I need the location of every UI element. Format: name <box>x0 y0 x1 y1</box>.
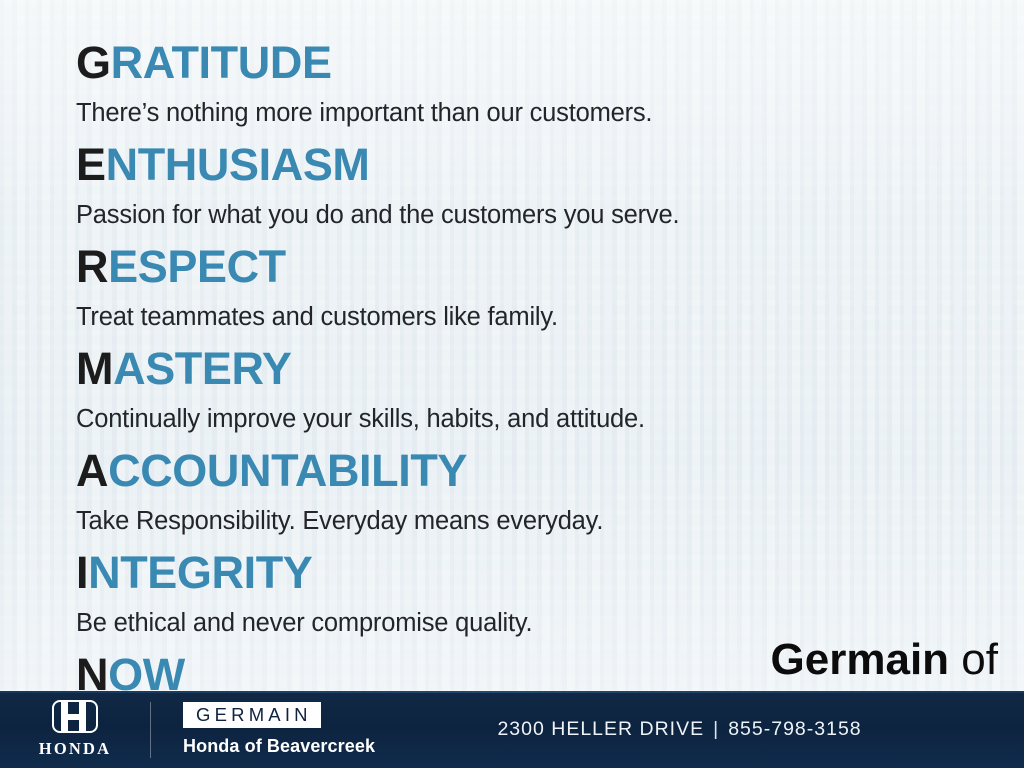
footer-top-edge <box>0 691 1024 693</box>
value-word-enthusiasm: ENTHUSIASM <box>76 136 976 194</box>
value-item-gratitude: GRATITUDE There’s nothing more important… <box>76 34 976 134</box>
value-description-accountability: Take Responsibility. Everyday means ever… <box>76 500 976 542</box>
brandmark-name-line: Germain of <box>712 636 998 684</box>
value-lead-letter: R <box>76 241 108 292</box>
values-poster: GRATITUDE There’s nothing more important… <box>0 0 1024 768</box>
honda-logo-block: HONDA <box>0 700 150 759</box>
germain-badge: GERMAIN <box>183 702 321 727</box>
value-rest-letters: RATITUDE <box>111 37 332 88</box>
value-description-gratitude: There’s nothing more important than our … <box>76 92 976 134</box>
value-rest-letters: NTEGRITY <box>88 547 312 598</box>
brandmark-name-strong: Germain <box>771 635 950 684</box>
value-lead-letter: E <box>76 139 106 190</box>
dealer-address: 2300 HELLER DRIVE <box>497 718 704 740</box>
value-description-respect: Treat teammates and customers like famil… <box>76 296 976 338</box>
contact-separator: | <box>704 718 728 741</box>
dealer-subtitle: Honda of Beavercreek <box>183 736 375 757</box>
footer-contact-block: 2300 HELLER DRIVE|855-798-3158 <box>375 718 1024 741</box>
value-word-respect: RESPECT <box>76 238 976 296</box>
value-word-accountability: ACCOUNTABILITY <box>76 442 976 500</box>
value-item-enthusiasm: ENTHUSIASM Passion for what you do and t… <box>76 136 976 236</box>
value-item-accountability: ACCOUNTABILITY Take Responsibility. Ever… <box>76 442 976 542</box>
brandmark-name-light: of <box>961 635 998 684</box>
value-lead-letter: M <box>76 343 113 394</box>
value-item-integrity: INTEGRITY Be ethical and never compromis… <box>76 544 976 644</box>
value-word-mastery: MASTERY <box>76 340 976 398</box>
honda-h-logo-icon <box>52 700 98 733</box>
dealer-logo-block: GERMAIN Honda of Beavercreek <box>151 702 375 756</box>
value-description-enthusiasm: Passion for what you do and the customer… <box>76 194 976 236</box>
value-lead-letter: A <box>76 445 108 496</box>
core-values-list: GRATITUDE There’s nothing more important… <box>76 34 976 706</box>
value-word-gratitude: GRATITUDE <box>76 34 976 92</box>
value-rest-letters: ESPECT <box>108 241 286 292</box>
value-lead-letter: G <box>76 37 111 88</box>
honda-wordmark: HONDA <box>39 739 111 759</box>
value-lead-letter: I <box>76 547 88 598</box>
dealer-phone[interactable]: 855-798-3158 <box>728 718 861 740</box>
value-rest-letters: NTHUSIASM <box>106 139 370 190</box>
value-item-respect: RESPECT Treat teammates and customers li… <box>76 238 976 338</box>
value-rest-letters: CCOUNTABILITY <box>108 445 467 496</box>
value-description-mastery: Continually improve your skills, habits,… <box>76 398 976 440</box>
value-word-integrity: INTEGRITY <box>76 544 976 602</box>
contact-line: 2300 HELLER DRIVE|855-798-3158 <box>497 718 861 741</box>
value-rest-letters: ASTERY <box>113 343 291 394</box>
footer-bar: HONDA GERMAIN Honda of Beavercreek 2300 … <box>0 691 1024 768</box>
value-item-mastery: MASTERY Continually improve your skills,… <box>76 340 976 440</box>
